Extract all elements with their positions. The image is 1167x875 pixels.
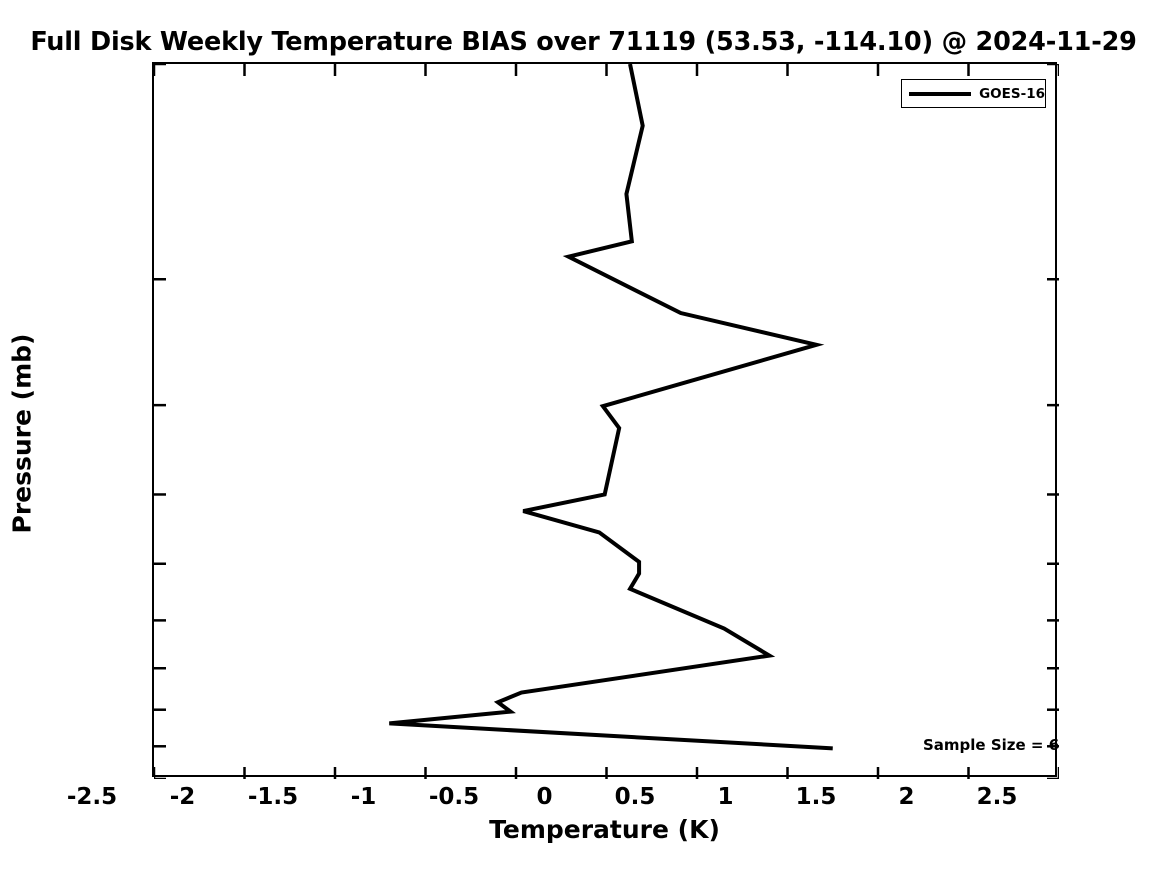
sample-size-annotation: Sample Size = 6: [923, 736, 1059, 754]
data-series-group: [389, 64, 832, 748]
legend-label-goes-16: GOES-16: [979, 86, 1045, 102]
x-axis-tick-marks: [154, 64, 1059, 779]
chart-figure: Full Disk Weekly Temperature BIAS over 7…: [0, 0, 1167, 875]
plot-area: [152, 62, 1057, 777]
page-title: Full Disk Weekly Temperature BIAS over 7…: [0, 27, 1167, 57]
legend: GOES-16: [901, 79, 1046, 108]
data-line-goes-16: [389, 64, 832, 748]
plot-svg: [154, 64, 1059, 779]
y-axis-title: Pressure (mb): [8, 284, 37, 584]
x-tick-label-2p5: 2.5: [937, 784, 1057, 810]
legend-swatch-goes-16: [909, 92, 971, 96]
y-axis-tick-marks: [154, 64, 1059, 779]
x-axis-title: Temperature (K): [152, 815, 1057, 844]
